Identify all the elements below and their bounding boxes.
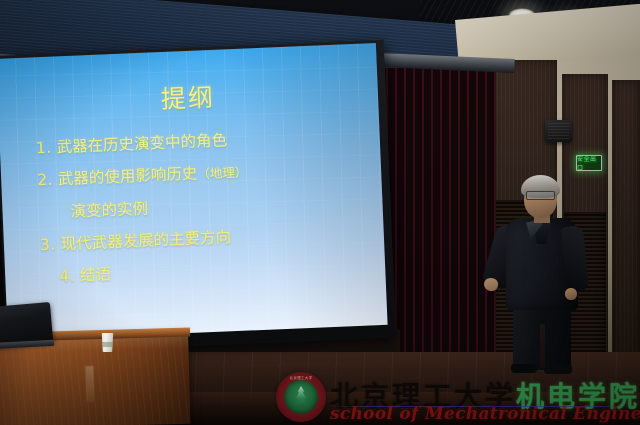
presenter [486, 178, 604, 368]
slide-bullet-text: 武器的使用影响历史 [58, 165, 198, 189]
presenter-shoe-left [511, 364, 537, 373]
paper-cup-band [102, 342, 113, 347]
presentation-slide: 提纲 1. 武器在历史演变中的角色 2. 武器的使用影响历史（地理） 演变的实例… [0, 43, 388, 341]
glasses-icon [526, 191, 555, 200]
slide-bullet: 1. 武器在历史演变中的角色 [20, 126, 360, 159]
slide-bullet-text: 结语 [80, 265, 112, 284]
wall-speaker-box [545, 120, 572, 142]
projection-screen-frame: 提纲 1. 武器在历史演变中的角色 2. 武器的使用影响历史（地理） 演变的实例… [0, 40, 396, 354]
podium-nameplate [85, 366, 94, 402]
slide-bullet-parenthetical: （地理） [197, 165, 248, 182]
wood-wall-panel [612, 80, 640, 362]
slide-bullet-number: 1. [36, 139, 53, 158]
lecture-hall-photo: 安全出口 提纲 1. 武器在历史演变中的角色 2. 武器的使用影响历史（地理） … [0, 0, 640, 425]
presenter-leg-gap [540, 324, 545, 368]
slide-title: 提纲 [17, 72, 358, 122]
slide-bullet-text: 武器在历史演变中的角色 [56, 131, 227, 156]
slide-bullet: 3. 现代武器发展的主要方向 [24, 223, 364, 256]
presenter-shoe-right [544, 365, 572, 374]
slide-bullet-number: 2. [37, 171, 54, 190]
slide-bullet-text: 演变的实例 [70, 199, 148, 220]
slide-bullet-number: 3. [40, 235, 57, 254]
exit-sign-label: 安全出口 [577, 154, 601, 172]
slide-bullet-continuation: 演变的实例 [22, 190, 362, 223]
slide-bullet: 2. 武器的使用影响历史（地理） [21, 158, 361, 191]
slide-bullet-number: 4. [59, 267, 76, 286]
presenter-hand-right [565, 288, 577, 300]
slide-bullet-text: 现代武器发展的主要方向 [60, 228, 231, 253]
projection-screen: 提纲 1. 武器在历史演变中的角色 2. 武器的使用影响历史（地理） 演变的实例… [0, 43, 388, 341]
slide-bullet: 4. 结语 [25, 255, 365, 288]
exit-sign: 安全出口 [576, 155, 602, 171]
